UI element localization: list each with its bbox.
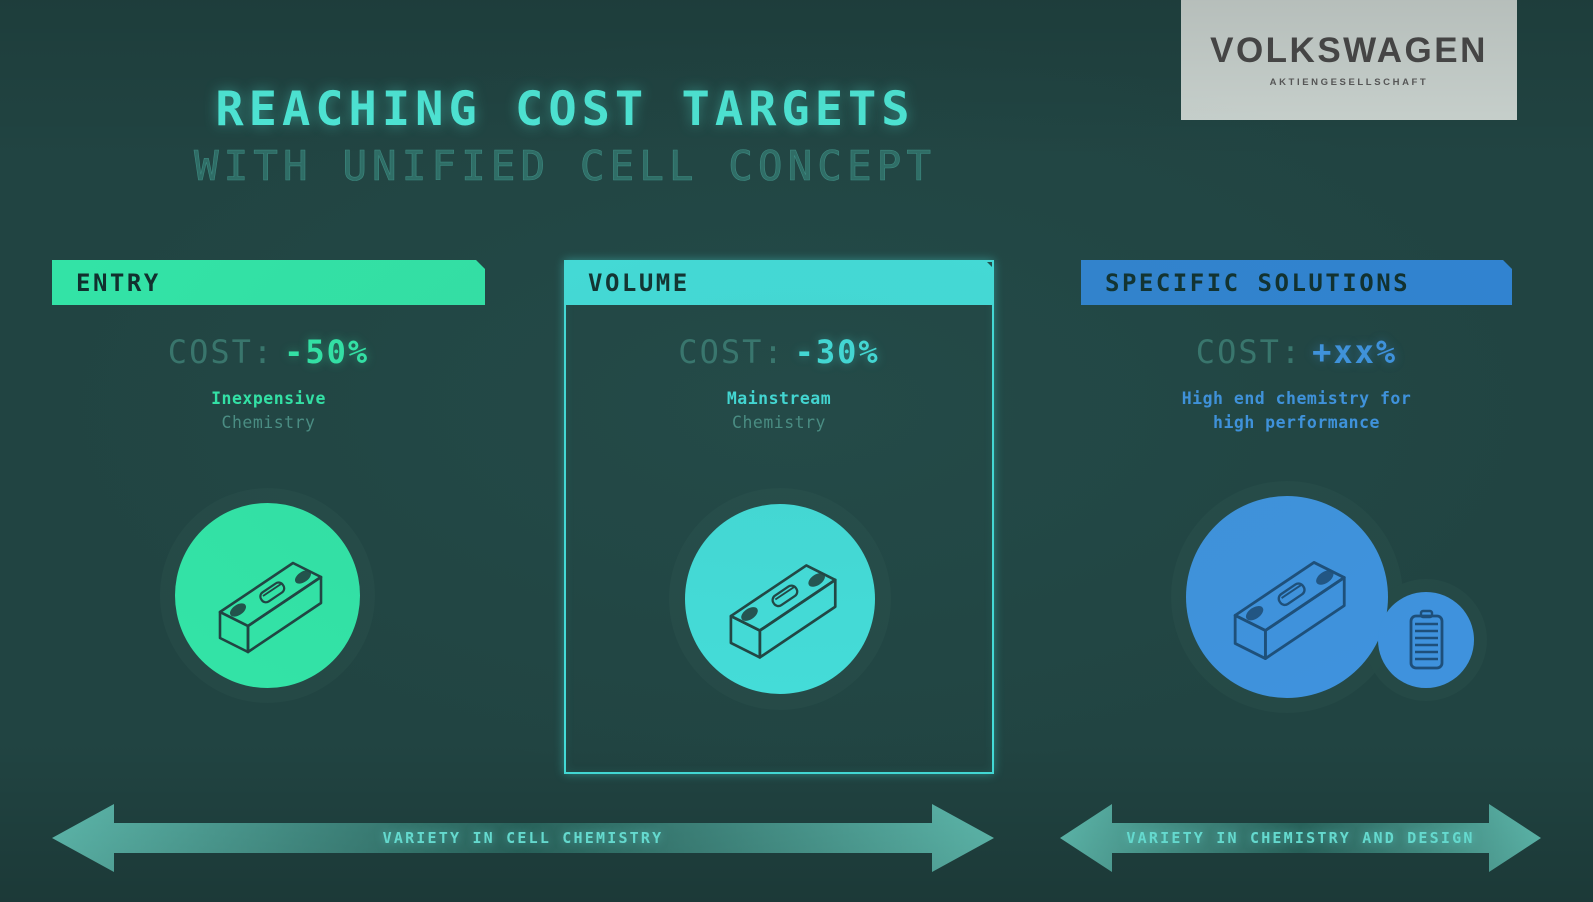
- volkswagen-logo: VOLKSWAGEN AKTIENGESELLSCHAFT: [1181, 0, 1517, 120]
- volume-cost-row: COST:-30%: [564, 333, 994, 371]
- volume-desc-soft: Chemistry: [564, 411, 994, 435]
- entry-header-bar: ENTRY: [52, 260, 485, 305]
- specific-desc-strong: High end chemistry for: [1081, 387, 1512, 411]
- volume-icon-circle: [685, 504, 875, 694]
- entry-description: Inexpensive Chemistry: [52, 387, 485, 435]
- specific-cost-word: COST:: [1196, 333, 1302, 371]
- specific-header-bar: SPECIFIC SOLUTIONS: [1081, 260, 1512, 305]
- double-arrow-shape: [52, 802, 994, 874]
- entry-cost-value: -50%: [284, 333, 369, 371]
- volume-desc-strong: Mainstream: [564, 387, 994, 411]
- page-title: REACHING COST TARGETS: [0, 82, 1130, 137]
- prismatic-cell-icon: [1206, 516, 1368, 678]
- specific-label: SPECIFIC SOLUTIONS: [1105, 269, 1410, 297]
- entry-icon-area: [52, 495, 485, 735]
- specific-cost-row: COST:+xx%: [1081, 333, 1512, 371]
- volume-icon-area: [564, 495, 994, 735]
- volume-label: VOLUME: [588, 269, 690, 297]
- double-arrow-shape: [1060, 802, 1541, 874]
- volume-cost-value: -30%: [795, 333, 880, 371]
- entry-desc-soft: Chemistry: [52, 411, 485, 435]
- entry-icon-circle: [175, 503, 360, 688]
- column-specific-solutions: SPECIFIC SOLUTIONS COST:+xx% High end ch…: [1081, 260, 1512, 735]
- volume-header-bar: VOLUME: [564, 260, 994, 305]
- specific-description: High end chemistry for high performance: [1081, 387, 1512, 435]
- logo-subline: AKTIENGESELLSCHAFT: [1270, 78, 1429, 88]
- entry-cost-row: COST:-50%: [52, 333, 485, 371]
- column-entry: ENTRY COST:-50% Inexpensive Chemistry: [52, 260, 485, 735]
- entry-cost-word: COST:: [168, 333, 274, 371]
- entry-label: ENTRY: [76, 269, 161, 297]
- page-subtitle: WITH UNIFIED CELL CONCEPT: [0, 142, 1130, 190]
- specific-icon-circle-small: [1378, 592, 1474, 688]
- entry-desc-strong: Inexpensive: [52, 387, 485, 411]
- prismatic-cell-icon: [703, 521, 858, 676]
- round-battery-icon: [1391, 605, 1461, 675]
- volume-description: Mainstream Chemistry: [564, 387, 994, 435]
- slide-root: VOLKSWAGEN AKTIENGESELLSCHAFT REACHING C…: [0, 0, 1593, 902]
- specific-icon-circle-large: [1186, 496, 1388, 698]
- specific-icon-area: [1081, 495, 1512, 735]
- volume-cost-word: COST:: [678, 333, 784, 371]
- prismatic-cell-icon: [193, 520, 343, 670]
- arrow-chemistry-design: VARIETY IN CHEMISTRY AND DESIGN: [1060, 802, 1541, 874]
- specific-cost-value: +xx%: [1312, 333, 1397, 371]
- arrow-cell-chemistry: VARIETY IN CELL CHEMISTRY: [52, 802, 994, 874]
- column-volume: VOLUME COST:-30% Mainstream Chemistry: [564, 260, 994, 735]
- logo-wordmark: VOLKSWAGEN: [1210, 33, 1488, 68]
- specific-desc-soft: high performance: [1081, 411, 1512, 435]
